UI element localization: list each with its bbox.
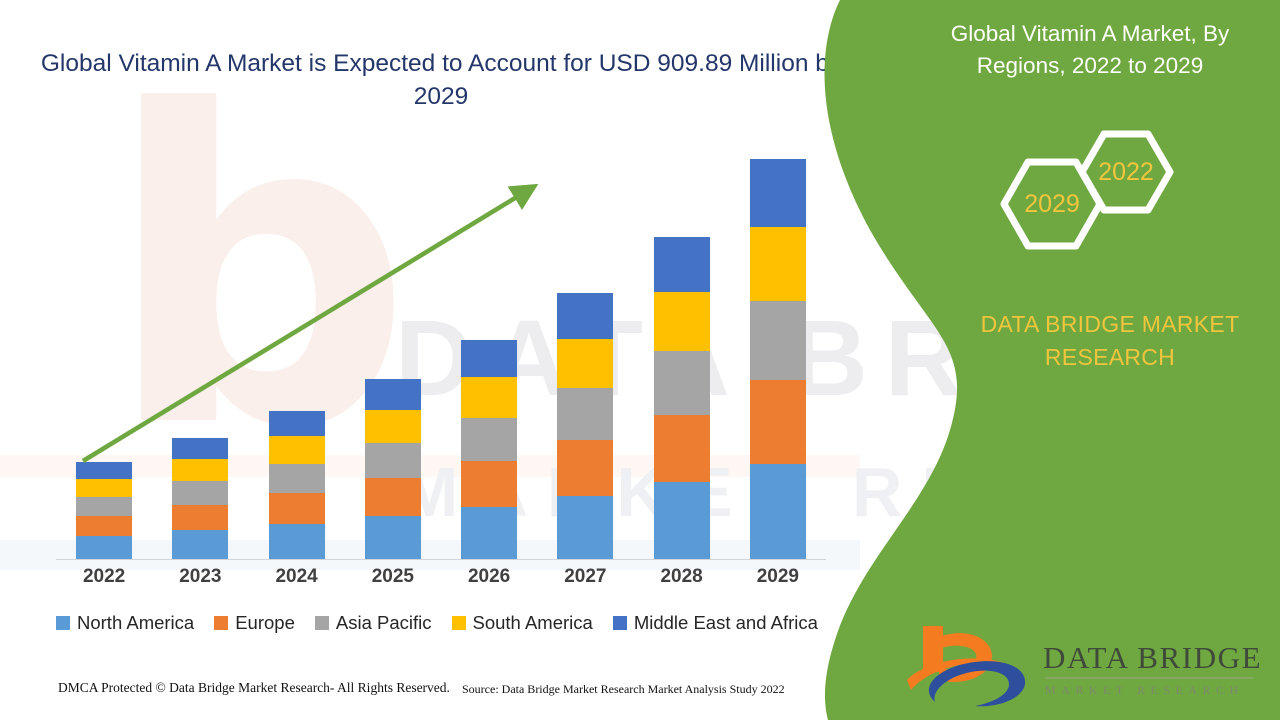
bar-group (56, 150, 826, 559)
bar-segment (461, 377, 517, 417)
legend-swatch-icon (214, 616, 228, 630)
bar-segment (76, 479, 132, 497)
bar-segment (750, 159, 806, 227)
bar-segment (557, 496, 613, 559)
stacked-bar-2023[interactable] (172, 438, 228, 559)
bar-segment (76, 497, 132, 516)
footer: DMCA Protected © Data Bridge Market Rese… (0, 680, 880, 706)
legend-label: North America (77, 612, 194, 634)
bar-segment (750, 464, 806, 559)
data-bridge-logo: DATA BRIDGE MARKET RESEARCH (905, 618, 1265, 710)
legend-item[interactable]: South America (452, 612, 593, 634)
panel-title: Global Vitamin A Market, By Regions, 202… (920, 18, 1260, 82)
bar-segment (269, 464, 325, 493)
bar-slot (537, 150, 633, 559)
stacked-bar-2025[interactable] (365, 379, 421, 559)
legend-item[interactable]: Middle East and Africa (613, 612, 818, 634)
bar-segment (750, 380, 806, 464)
bar-segment (557, 440, 613, 496)
bar-slot (249, 150, 345, 559)
x-tick-2025: 2025 (345, 566, 441, 588)
x-tick-2027: 2027 (537, 566, 633, 588)
bar-segment (557, 293, 613, 338)
bar-slot (441, 150, 537, 559)
bar-segment (365, 516, 421, 559)
bar-segment (750, 227, 806, 301)
bar-slot (152, 150, 248, 559)
x-tick-2028: 2028 (634, 566, 730, 588)
bar-segment (461, 418, 517, 461)
bar-segment (654, 292, 710, 351)
panel-brand-text: DATA BRIDGE MARKET RESEARCH (950, 308, 1270, 375)
legend-swatch-icon (452, 616, 466, 630)
bar-segment (172, 530, 228, 559)
bar-segment (172, 438, 228, 459)
bar-slot (634, 150, 730, 559)
bar-segment (654, 351, 710, 414)
dmca-notice: DMCA Protected © Data Bridge Market Rese… (58, 680, 450, 696)
bar-segment (557, 388, 613, 440)
bar-segment (461, 461, 517, 507)
bar-segment (654, 482, 710, 559)
x-tick-2023: 2023 (152, 566, 248, 588)
bar-segment (365, 410, 421, 443)
stacked-bar-2024[interactable] (269, 411, 325, 559)
bar-segment (76, 462, 132, 479)
right-green-panel: Global Vitamin A Market, By Regions, 202… (800, 0, 1280, 720)
chart-area: Global Vitamin A Market is Expected to A… (0, 0, 880, 720)
legend-label: Asia Pacific (336, 612, 432, 634)
green-panel-content: Global Vitamin A Market, By Regions, 202… (800, 0, 1280, 720)
bar-segment (269, 436, 325, 463)
legend-swatch-icon (56, 616, 70, 630)
stacked-bar-2022[interactable] (76, 462, 132, 559)
stacked-bar-2029[interactable] (750, 159, 806, 559)
stacked-bar-2026[interactable] (461, 340, 517, 559)
legend-label: Europe (235, 612, 295, 634)
stacked-bar-2028[interactable] (654, 237, 710, 559)
bar-segment (172, 481, 228, 505)
bar-segment (269, 411, 325, 436)
legend-swatch-icon (613, 616, 627, 630)
chart-legend: North AmericaEuropeAsia PacificSouth Ame… (56, 612, 846, 634)
legend-label: Middle East and Africa (634, 612, 818, 634)
plot-area (56, 150, 826, 560)
bar-segment (76, 536, 132, 559)
x-axis-labels: 20222023202420252026202720282029 (56, 566, 826, 588)
bar-segment (750, 301, 806, 380)
bar-slot (345, 150, 441, 559)
bar-segment (76, 516, 132, 536)
svg-text:2022: 2022 (1098, 158, 1154, 186)
legend-item[interactable]: Europe (214, 612, 295, 634)
x-tick-2022: 2022 (56, 566, 152, 588)
x-tick-2024: 2024 (249, 566, 345, 588)
x-tick-2026: 2026 (441, 566, 537, 588)
source-note: Source: Data Bridge Market Research Mark… (462, 682, 785, 697)
bar-segment (654, 415, 710, 483)
bar-slot (56, 150, 152, 559)
svg-text:DATA BRIDGE: DATA BRIDGE (1043, 640, 1262, 675)
hexagon-badge-2022: 2022 (1082, 134, 1170, 210)
legend-swatch-icon (315, 616, 329, 630)
hexagon-badges: 2029 2022 (980, 128, 1210, 288)
svg-text:MARKET RESEARCH: MARKET RESEARCH (1045, 683, 1244, 697)
bar-segment (557, 339, 613, 388)
chart-headline: Global Vitamin A Market is Expected to A… (36, 48, 846, 113)
legend-label: South America (473, 612, 593, 634)
bar-segment (172, 505, 228, 530)
bar-segment (654, 237, 710, 292)
svg-text:2029: 2029 (1024, 190, 1080, 218)
bar-segment (365, 379, 421, 410)
bar-segment (365, 478, 421, 516)
legend-item[interactable]: North America (56, 612, 194, 634)
legend-item[interactable]: Asia Pacific (315, 612, 432, 634)
axis-baseline (56, 559, 826, 560)
stacked-bar-2027[interactable] (557, 293, 613, 559)
infographic-root: b DATA BRIDGE MARKET RESEARCH Global Vit… (0, 0, 1280, 720)
bar-segment (172, 459, 228, 481)
bar-segment (269, 524, 325, 559)
bar-segment (365, 443, 421, 479)
bar-segment (461, 340, 517, 377)
bar-segment (269, 493, 325, 524)
bar-segment (461, 507, 517, 559)
